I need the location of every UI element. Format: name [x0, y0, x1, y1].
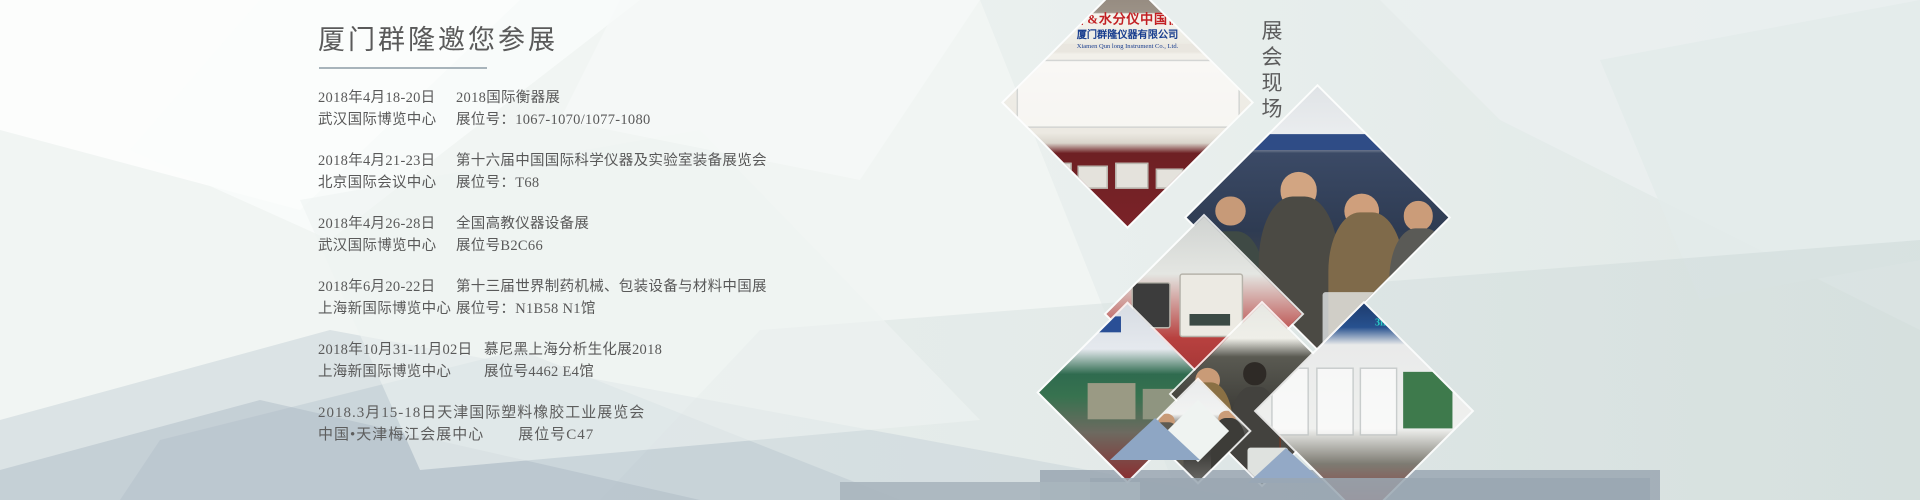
booth-device [1155, 168, 1183, 189]
exhibition-text-column: 厦门群隆邀您参展 2018年4月18-20日 2018国际衡器展 武汉国际博览中… [318, 22, 1078, 465]
exhibition-date: 2018年10月31-11月02日 [318, 339, 470, 361]
exhibition-booth: 展位号4462 E4馆 [470, 361, 594, 383]
person-head [1403, 201, 1432, 230]
green-machine [1404, 371, 1452, 428]
exhibition-name: 2018国际衡器展 [442, 87, 560, 109]
exhibition-entry-last: 2018.3月15-18日天津国际塑料橡胶工业展览会 中国•天津梅江会展中心 展… [318, 402, 1078, 446]
booth-banner-line1: 密度计&水分仪中国供应商 [1046, 9, 1209, 28]
bottom-accent-bar-secondary [840, 482, 1140, 500]
person-body [1390, 228, 1448, 348]
booth-device [1036, 163, 1072, 189]
exhibition-date: 2018年4月18-20日 [318, 87, 442, 109]
accent-triangle-icon [1110, 418, 1200, 460]
exhibition-booth: 展位号C47 [484, 424, 594, 446]
exhibition-entry: 2018年6月20-22日 第十三届世界制药机械、包装设备与材料中国展 上海新国… [318, 276, 1078, 320]
exhibition-booth: 展位号：T68 [442, 172, 539, 194]
exhibition-venue: 武汉国际博览中心 [318, 235, 442, 257]
exhibition-entry: 2018年4月26-28日 全国高教仪器设备展 武汉国际博览中心 展位号B2C6… [318, 213, 1078, 257]
exhibition-venue: 上海新国际博览中心 [318, 298, 442, 320]
exhibition-date: 2018年4月21-23日 [318, 150, 442, 172]
stand-logo: 3nGRT [1375, 316, 1407, 328]
booth-banner: 密度计&水分仪中国供应商 厦门群隆仪器有限公司 Xiamen Qun long … [1004, 14, 1251, 44]
analyzer-display [1190, 314, 1230, 326]
photo-collage: 密度计&水分仪中国供应商 厦门群隆仪器有限公司 Xiamen Qun long … [1020, 0, 1490, 500]
person-head [1216, 196, 1245, 225]
booth-shelf [1016, 59, 1239, 128]
booth-device [1077, 166, 1108, 189]
exhibition-entry: 2018年4月21-23日 第十六届中国国际科学仪器及实验室装备展览会 北京国际… [318, 150, 1078, 194]
page-title: 厦门群隆邀您参展 [318, 22, 1078, 67]
exhibition-name: 慕尼黑上海分析生化展2018 [470, 339, 662, 361]
exhibition-name: 全国高教仪器设备展 [442, 213, 589, 235]
exhibition-entry: 2018年10月31-11月02日 慕尼黑上海分析生化展2018 上海新国际博览… [318, 339, 1078, 383]
title-underline [319, 67, 487, 69]
machine [1088, 383, 1135, 419]
display-panel [1360, 367, 1398, 436]
exhibition-date: 2018年6月20-22日 [318, 276, 442, 298]
exhibition-venue: 中国•天津梅江会展中心 [318, 424, 484, 446]
bottom-accent-bar [1090, 478, 1650, 500]
person-head [1243, 362, 1265, 384]
exhibition-venue: 北京国际会议中心 [318, 172, 442, 194]
display-panel [1315, 367, 1353, 436]
exhibition-name: 第十三届世界制药机械、包装设备与材料中国展 [442, 276, 767, 298]
stand-sign [1044, 316, 1120, 332]
exhibition-booth: 展位号：1067-1070/1077-1080 [442, 109, 651, 131]
booth-banner-line3: Xiamen Qun long Instrument Co., Ltd. [1077, 42, 1179, 49]
booth-banner-line2: 厦门群隆仪器有限公司 [1077, 27, 1179, 42]
exhibition-venue: 武汉国际博览中心 [318, 109, 442, 131]
booth-device [1115, 163, 1148, 189]
exhibition-entry: 2018年4月18-20日 2018国际衡器展 武汉国际博览中心 展位号：106… [318, 87, 1078, 131]
booth-header-band [1187, 134, 1449, 150]
exhibition-headline: 2018.3月15-18日天津国际塑料橡胶工业展览会 [318, 405, 645, 421]
exhibition-name: 第十六届中国国际科学仪器及实验室装备展览会 [442, 150, 767, 172]
exhibition-booth: 展位号：N1B58 N1馆 [442, 298, 596, 320]
banner-root: 厦门群隆邀您参展 2018年4月18-20日 2018国际衡器展 武汉国际博览中… [0, 0, 1920, 500]
exhibition-date: 2018年4月26-28日 [318, 213, 442, 235]
exhibition-booth: 展位号B2C66 [442, 235, 543, 257]
exhibition-venue: 上海新国际博览中心 [318, 361, 470, 383]
analyzer-device [1180, 274, 1243, 337]
